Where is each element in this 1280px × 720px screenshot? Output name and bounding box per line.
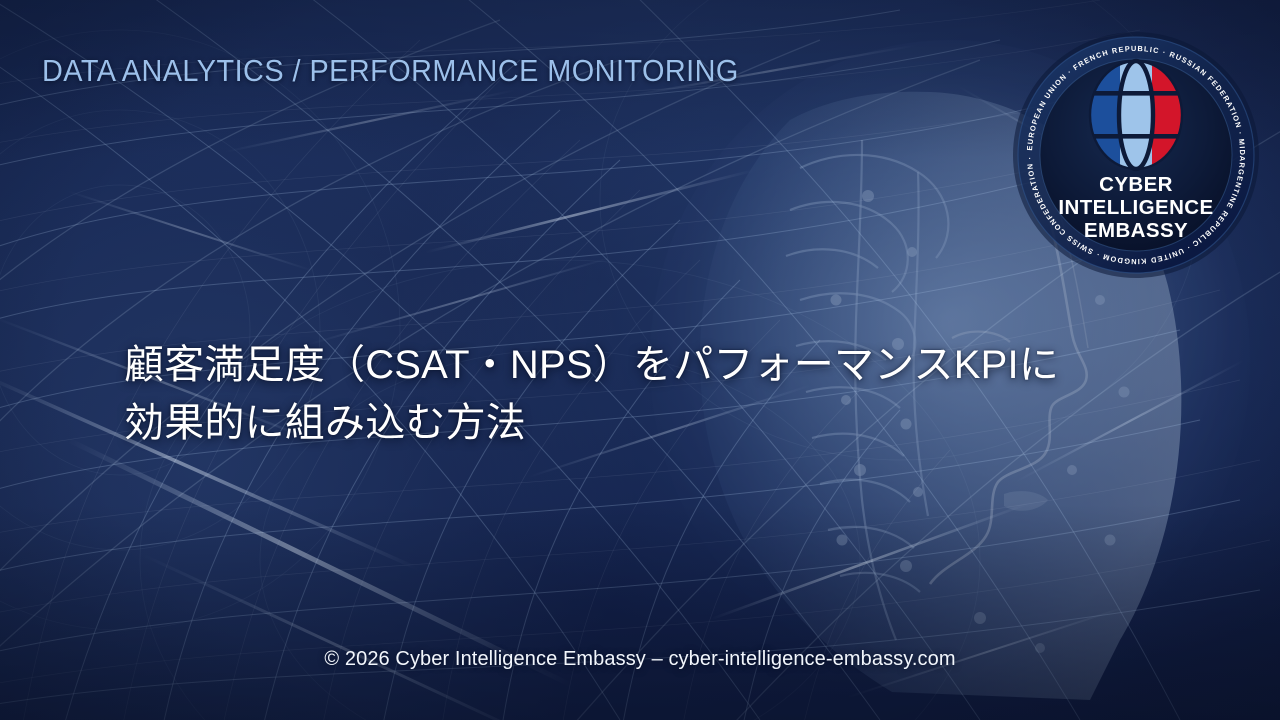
presentation-slide: DATA ANALYTICS / PERFORMANCE MONITORING …: [0, 0, 1280, 720]
slide-title-line-2: 効果的に組み込む方法: [124, 394, 1144, 452]
logo-svg: UNITED STATES OF AMERICA · EUROPEAN UNIO…: [1012, 31, 1260, 279]
slide-footer: © 2026 Cyber Intelligence Embassy – cybe…: [0, 648, 1280, 671]
slide-title: 顧客満足度（CSAT・NPS）をパフォーマンスKPIに 効果的に組み込む方法: [124, 336, 1144, 452]
slide-kicker: DATA ANALYTICS / PERFORMANCE MONITORING: [42, 53, 739, 89]
slide-title-line-1: 顧客満足度（CSAT・NPS）をパフォーマンスKPIに: [124, 336, 1144, 394]
cyber-intelligence-embassy-logo[interactable]: UNITED STATES OF AMERICA · EUROPEAN UNIO…: [1012, 31, 1260, 279]
badge-word-intelligence: INTELLIGENCE: [1058, 196, 1213, 219]
badge-word-embassy: EMBASSY: [1084, 219, 1188, 242]
badge-word-cyber: CYBER: [1099, 173, 1173, 196]
globe-icon: [1090, 61, 1184, 169]
